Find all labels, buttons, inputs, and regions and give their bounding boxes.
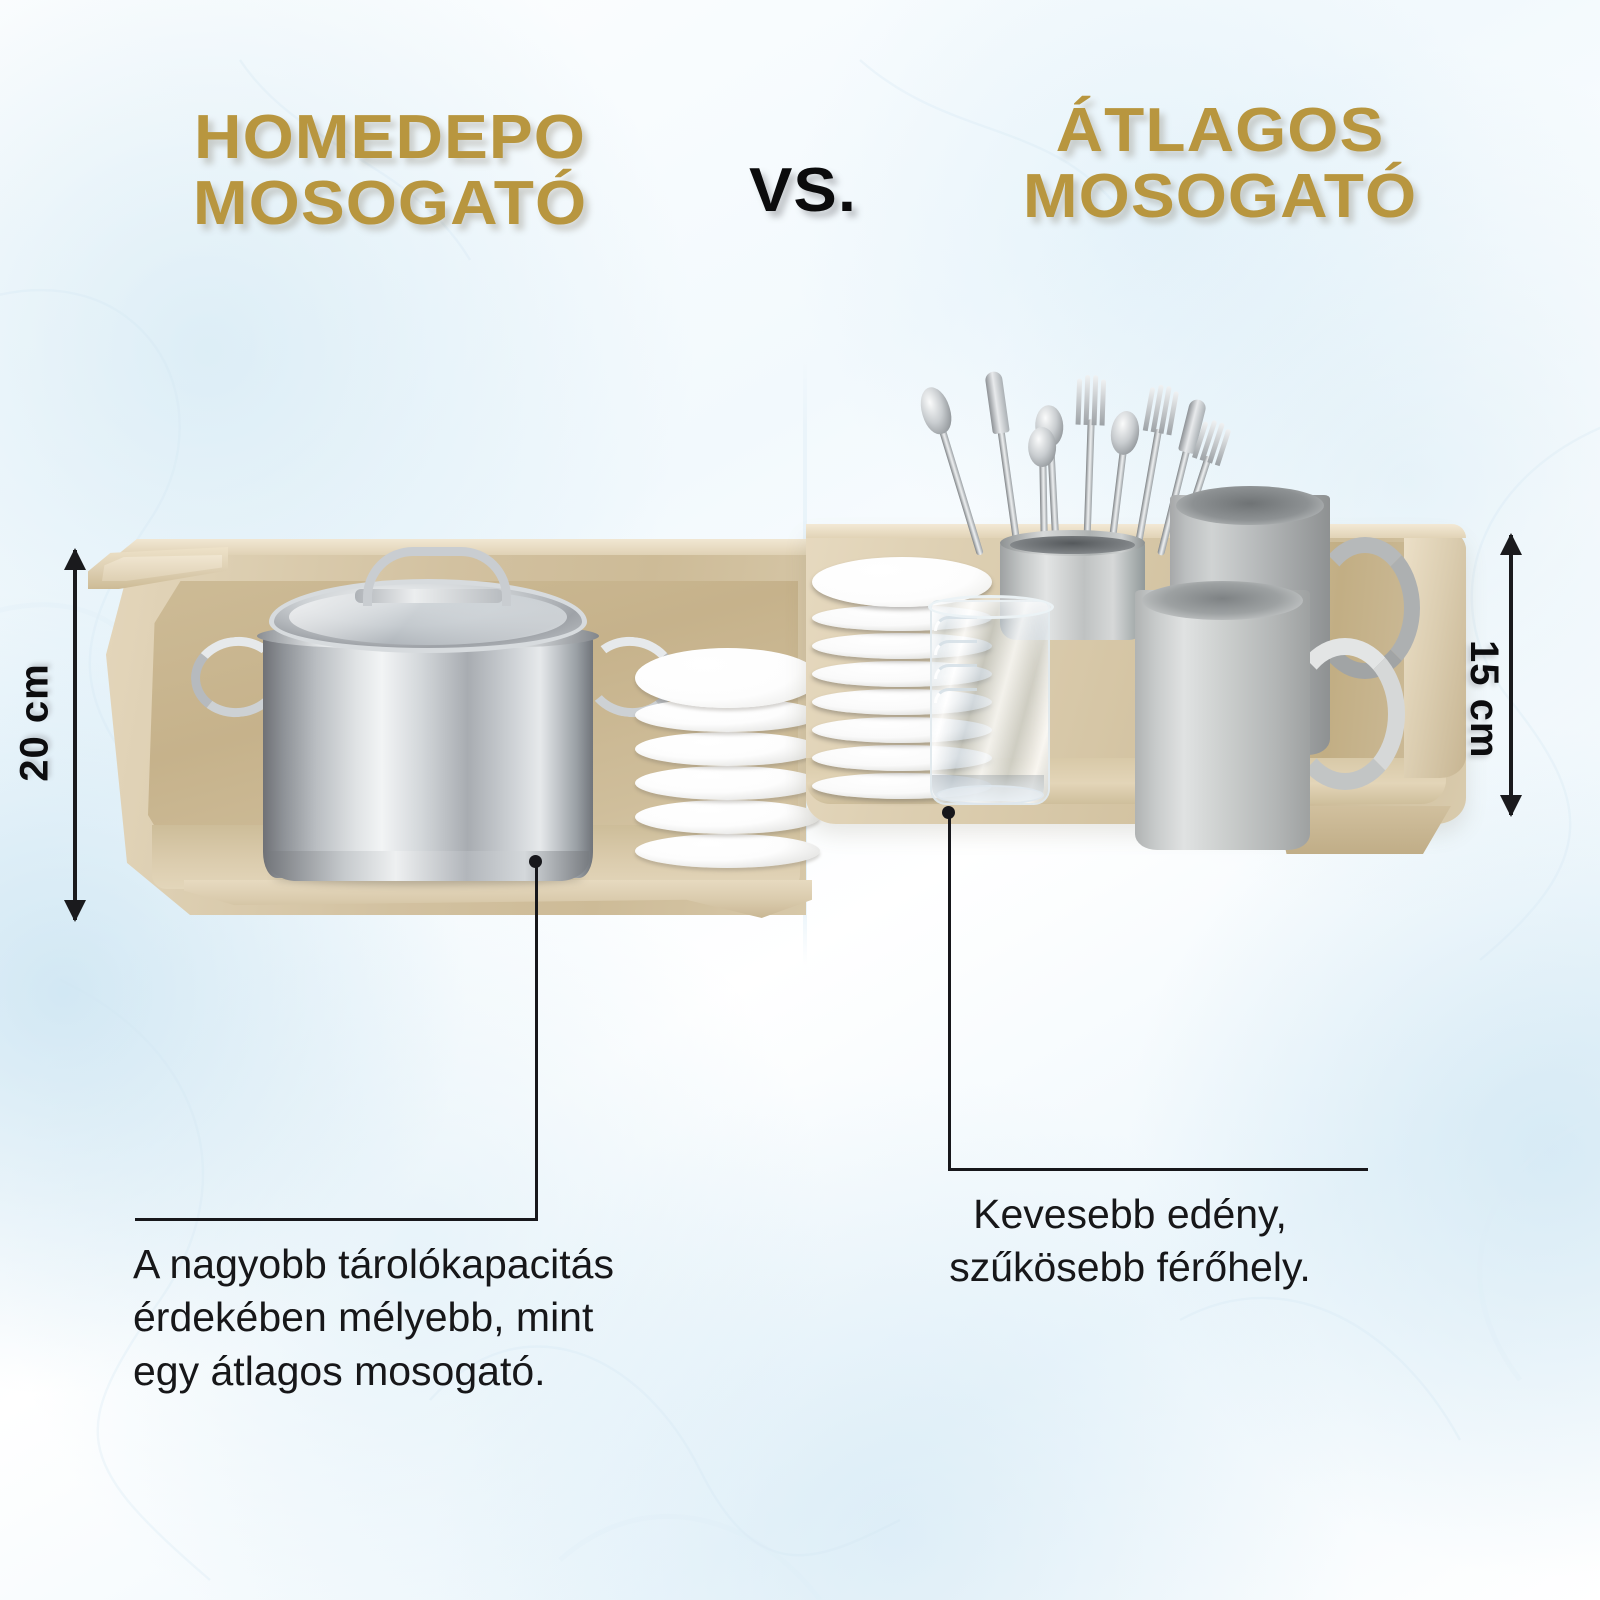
- arrow-head-down: [64, 900, 86, 922]
- glass-ridge: [934, 640, 977, 655]
- holder-opening: [1010, 536, 1135, 554]
- glass-base-ring: [936, 785, 1044, 805]
- callout-leader-horizontal-left: [135, 1218, 538, 1221]
- glass-ridge: [934, 664, 977, 679]
- plate: [635, 766, 820, 800]
- callout-leader-horizontal-right: [948, 1168, 1368, 1171]
- caption-right: Kevesebb edény, szűkösebb férőhely.: [930, 1188, 1330, 1295]
- versus-label: VS.: [714, 158, 893, 224]
- arrow-shaft: [1509, 535, 1513, 815]
- pot-body: [263, 633, 593, 878]
- glass-ridge: [934, 688, 977, 703]
- arrow-head-down: [1500, 795, 1522, 817]
- plate: [635, 800, 820, 834]
- glass-rim: [928, 595, 1054, 619]
- infographic-canvas: HOMEDEPO MOSOGATÓ VS. ÁTLAGOS MOSOGATÓ: [0, 0, 1600, 1600]
- pot-lid-handle: [363, 547, 511, 606]
- stainless-stockpot: [185, 545, 670, 900]
- mug-body: [1135, 590, 1310, 850]
- mug-opening: [1142, 581, 1303, 620]
- callout-leader-vertical-right: [948, 812, 951, 1170]
- white-plate-stack-left: [635, 620, 820, 885]
- tray-right-rim: [1404, 528, 1466, 778]
- arrow-head-up: [64, 548, 86, 570]
- depth-arrow-left: [60, 550, 90, 920]
- depth-label-right: 15 cm: [1461, 640, 1506, 758]
- heading-average-sink: ÁTLAGOS MOSOGATÓ: [944, 98, 1495, 229]
- plate: [635, 834, 820, 868]
- arrow-shaft: [73, 550, 77, 920]
- heading-homedepo-sink: HOMEDEPO MOSOGATÓ: [114, 105, 665, 236]
- plate: [635, 732, 820, 766]
- drinking-glass: [930, 600, 1050, 805]
- caption-left: A nagyobb tárolókapacitás érdekében mély…: [133, 1238, 693, 1398]
- depth-label-left: 20 cm: [13, 663, 58, 781]
- pot-base: [267, 851, 589, 881]
- gray-mug-front: [1135, 590, 1310, 850]
- plate: [635, 648, 820, 708]
- arrow-head-up: [1500, 533, 1522, 555]
- mug-opening: [1176, 486, 1323, 525]
- callout-leader-vertical-left: [535, 860, 538, 1220]
